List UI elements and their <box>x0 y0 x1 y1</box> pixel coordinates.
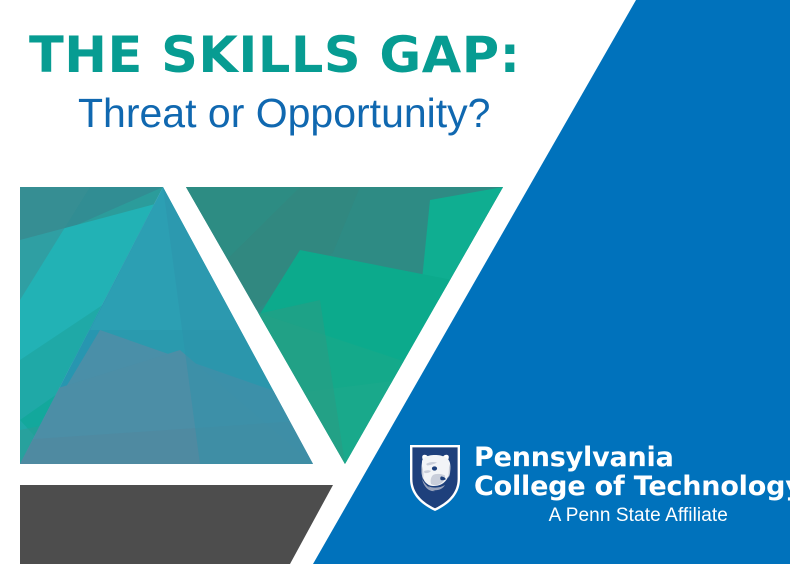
page-title: THE SKILLS GAP: <box>29 28 521 82</box>
headline-block: THE SKILLS GAP: Threat or Opportunity? <box>0 0 600 160</box>
penn-state-shield-icon <box>408 443 462 513</box>
poster-canvas: THE SKILLS GAP: Threat or Opportunity? <box>0 0 790 564</box>
dark-gray-trapezoid <box>0 480 360 564</box>
page-subtitle: Threat or Opportunity? <box>78 90 490 136</box>
logo-line-college-of-technology: College of Technology <box>474 472 790 501</box>
logo-text-block: Pennsylvania College of Technology A Pen… <box>474 441 790 528</box>
logo-line-pennsylvania: Pennsylvania <box>474 443 790 472</box>
logo-affiliate-tagline: A Penn State Affiliate <box>474 504 790 528</box>
penn-college-logo-lockup: Pennsylvania College of Technology A Pen… <box>408 441 758 536</box>
